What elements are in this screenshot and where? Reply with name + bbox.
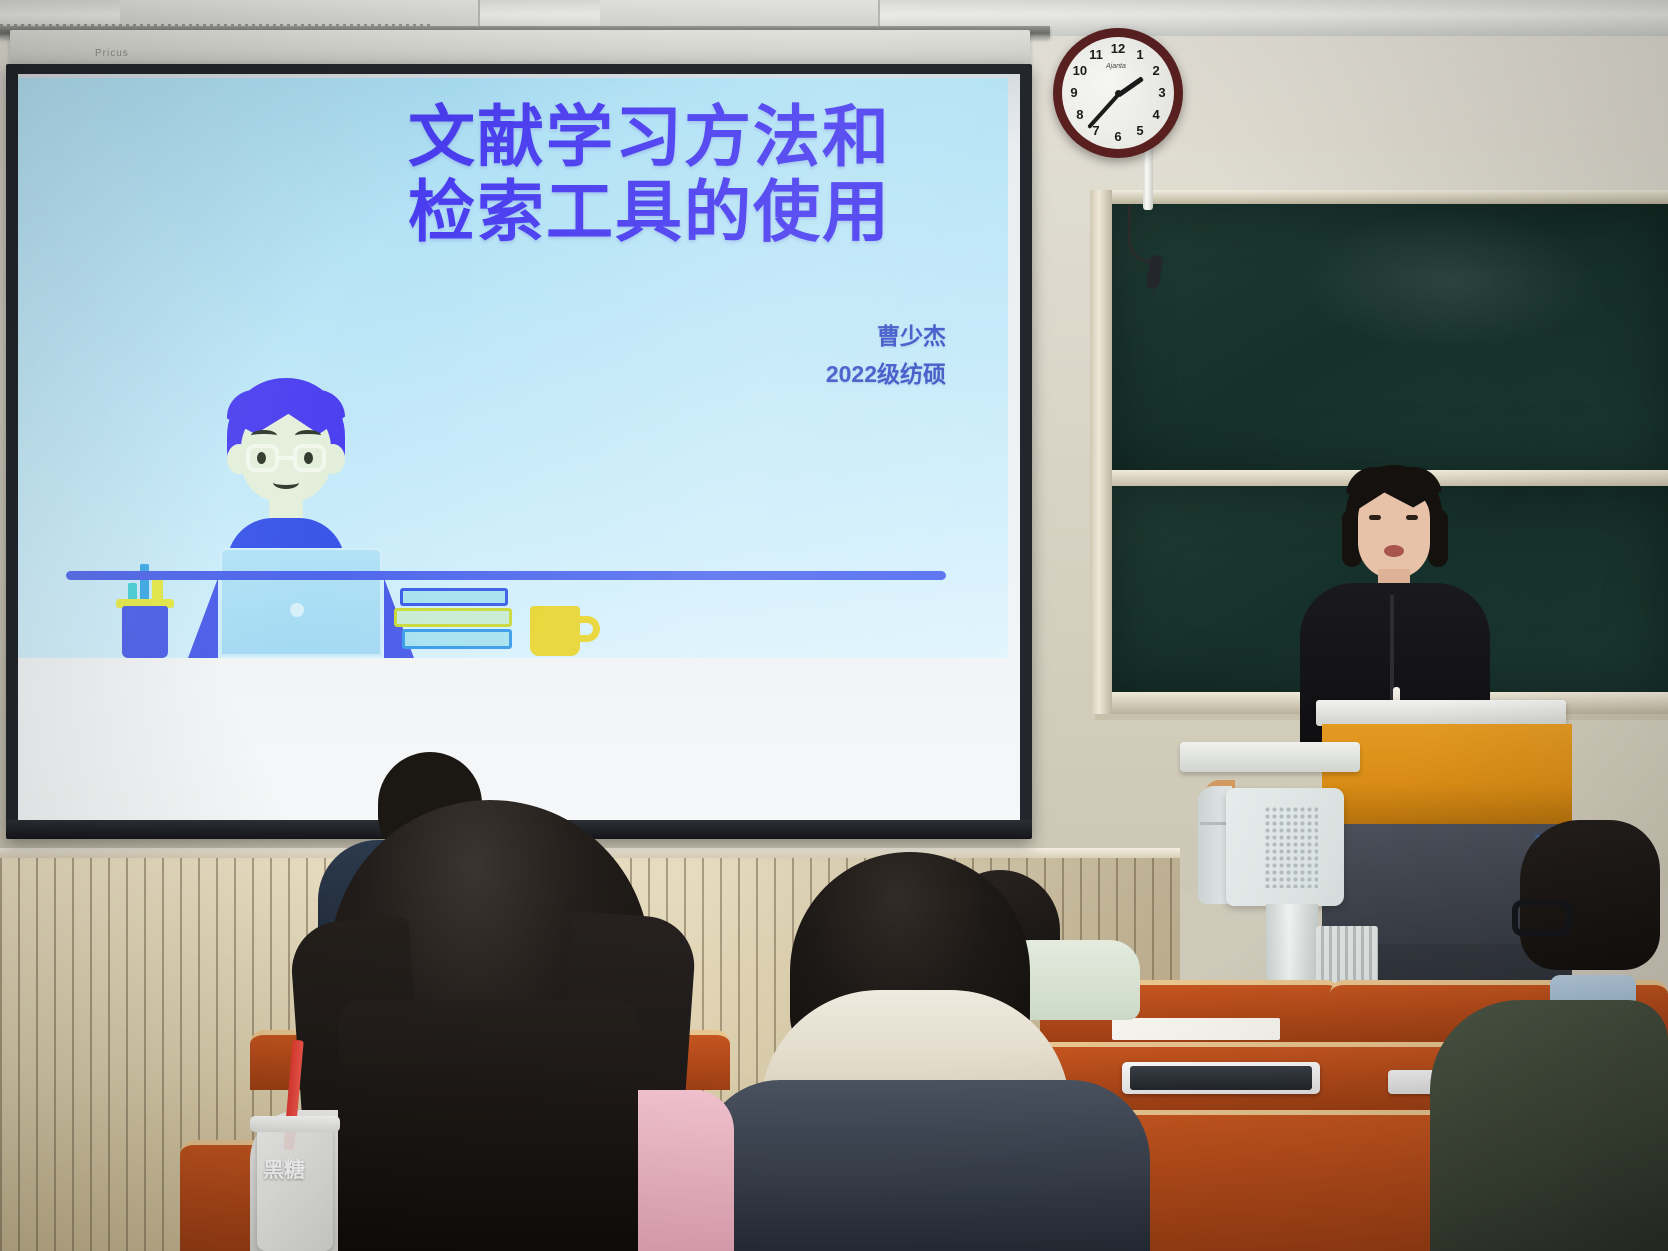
- student-front-left-hair-main: [338, 1000, 638, 1251]
- tablet-screen[interactable]: [1130, 1066, 1312, 1090]
- clock-numeral: 8: [1071, 107, 1089, 122]
- clock-numeral: 5: [1131, 123, 1149, 138]
- clock-numeral: 2: [1147, 63, 1165, 78]
- clock-numeral: 12: [1109, 41, 1127, 56]
- clock-numeral: 1: [1131, 47, 1149, 62]
- clock-center-pin: [1115, 90, 1122, 97]
- blackboard-top-trim: [1095, 190, 1668, 204]
- blackboard-glare: [1300, 210, 1600, 350]
- presenter-eye-left: [1369, 515, 1381, 520]
- clock-numeral: 11: [1087, 47, 1105, 62]
- wall-clock: Ajanta 12 1 2 3 4 5 6 7 8 9 10 11: [1053, 28, 1183, 158]
- presentation-slide: 文献学习方法和 检索工具的使用 曹少杰 2022级纺硕: [18, 78, 1008, 658]
- podium-wood-panel: [1322, 724, 1572, 824]
- screen-brand-label: Pricus: [95, 48, 129, 59]
- student-right-glasses-body: [1430, 1000, 1668, 1251]
- cup-label-text: 黑糖: [263, 1160, 323, 1181]
- clock-numeral: 3: [1153, 85, 1171, 100]
- pedestal-top-surface: [1180, 742, 1360, 772]
- clock-brand-label: Ajanta: [1106, 63, 1126, 70]
- blackboard-left-post: [1090, 190, 1112, 714]
- presenter-eye-right: [1406, 515, 1418, 520]
- student-right-glasses-head: [1520, 820, 1660, 970]
- papers-on-desk: [1112, 1018, 1280, 1040]
- lecture-hall-scene: Ajanta 12 1 2 3 4 5 6 7 8 9 10 11 Pricus: [0, 0, 1668, 1251]
- student-center-hoodie-body: [700, 1080, 1150, 1251]
- podium-top-surface: [1316, 700, 1566, 726]
- slide-projection-sheen: [18, 78, 1008, 658]
- clock-face: Ajanta 12 1 2 3 4 5 6 7 8 9 10 11: [1062, 37, 1174, 149]
- cup-lid: [250, 1116, 340, 1132]
- clock-numeral: 4: [1147, 107, 1165, 122]
- bubble-tea-cup: [257, 1123, 333, 1251]
- eyeglasses-icon: [1512, 900, 1572, 936]
- clock-numeral: 10: [1071, 63, 1089, 78]
- clock-numeral: 9: [1065, 85, 1083, 100]
- speaker-grille: [1264, 806, 1318, 888]
- clock-numeral: 6: [1109, 129, 1127, 144]
- presenter-side-hair-right: [1428, 509, 1448, 567]
- microphone-cable: [1128, 205, 1154, 263]
- presenter-mouth: [1384, 545, 1404, 557]
